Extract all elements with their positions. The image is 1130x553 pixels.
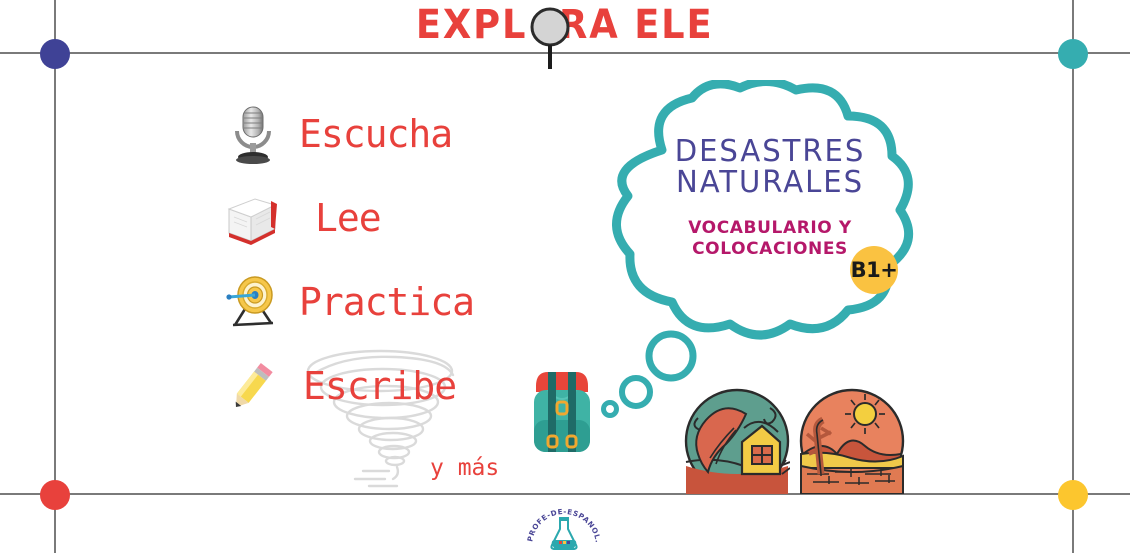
topic-heading-line2: NATURALES [634,167,906,198]
topic-subtitle-line1: VOCABULARIO Y [630,218,910,239]
menu-item-label: Escribe [303,364,456,408]
corner-dot-bottom-right [1058,480,1088,510]
brand-logo[interactable]: PROFE-DE-ESPANOL.DE [524,500,604,553]
menu-item-lee[interactable]: Lee [225,176,525,260]
pencil-icon [225,355,281,417]
title-text-before: EXPL [416,2,526,48]
grid-line-right [1072,0,1074,553]
menu-item-escucha[interactable]: Escucha [225,92,525,176]
open-book-icon [225,187,281,249]
more-label: y más [430,455,499,481]
activity-menu: Escucha Lee [225,92,525,428]
slide-canvas: EXPLORA ELE [0,0,1130,553]
grid-line-bottom [0,493,1130,495]
level-badge: B1+ [850,246,898,294]
menu-item-label: Escucha [299,112,452,156]
microphone-icon [225,103,281,165]
topic-heading-line1: DESASTRES [634,136,906,167]
menu-item-label: Practica [299,280,474,324]
flask-icon [551,517,576,549]
title-text-after: RA ELE [559,2,713,48]
backpack-icon [522,360,602,465]
storm-scene-icon [684,388,790,494]
grid-line-left [54,0,56,553]
corner-dot-bottom-left [40,480,70,510]
menu-item-escribe[interactable]: Escribe [225,344,525,428]
topic-cloud-text: DESASTRES NATURALES VOCABULARIO Y COLOCA… [630,136,910,260]
magnifying-glass-icon [529,5,571,71]
drought-scene-icon [799,388,905,494]
dartboard-target-icon [225,271,281,333]
menu-item-practica[interactable]: Practica [225,260,525,344]
menu-item-label: Lee [315,196,381,240]
